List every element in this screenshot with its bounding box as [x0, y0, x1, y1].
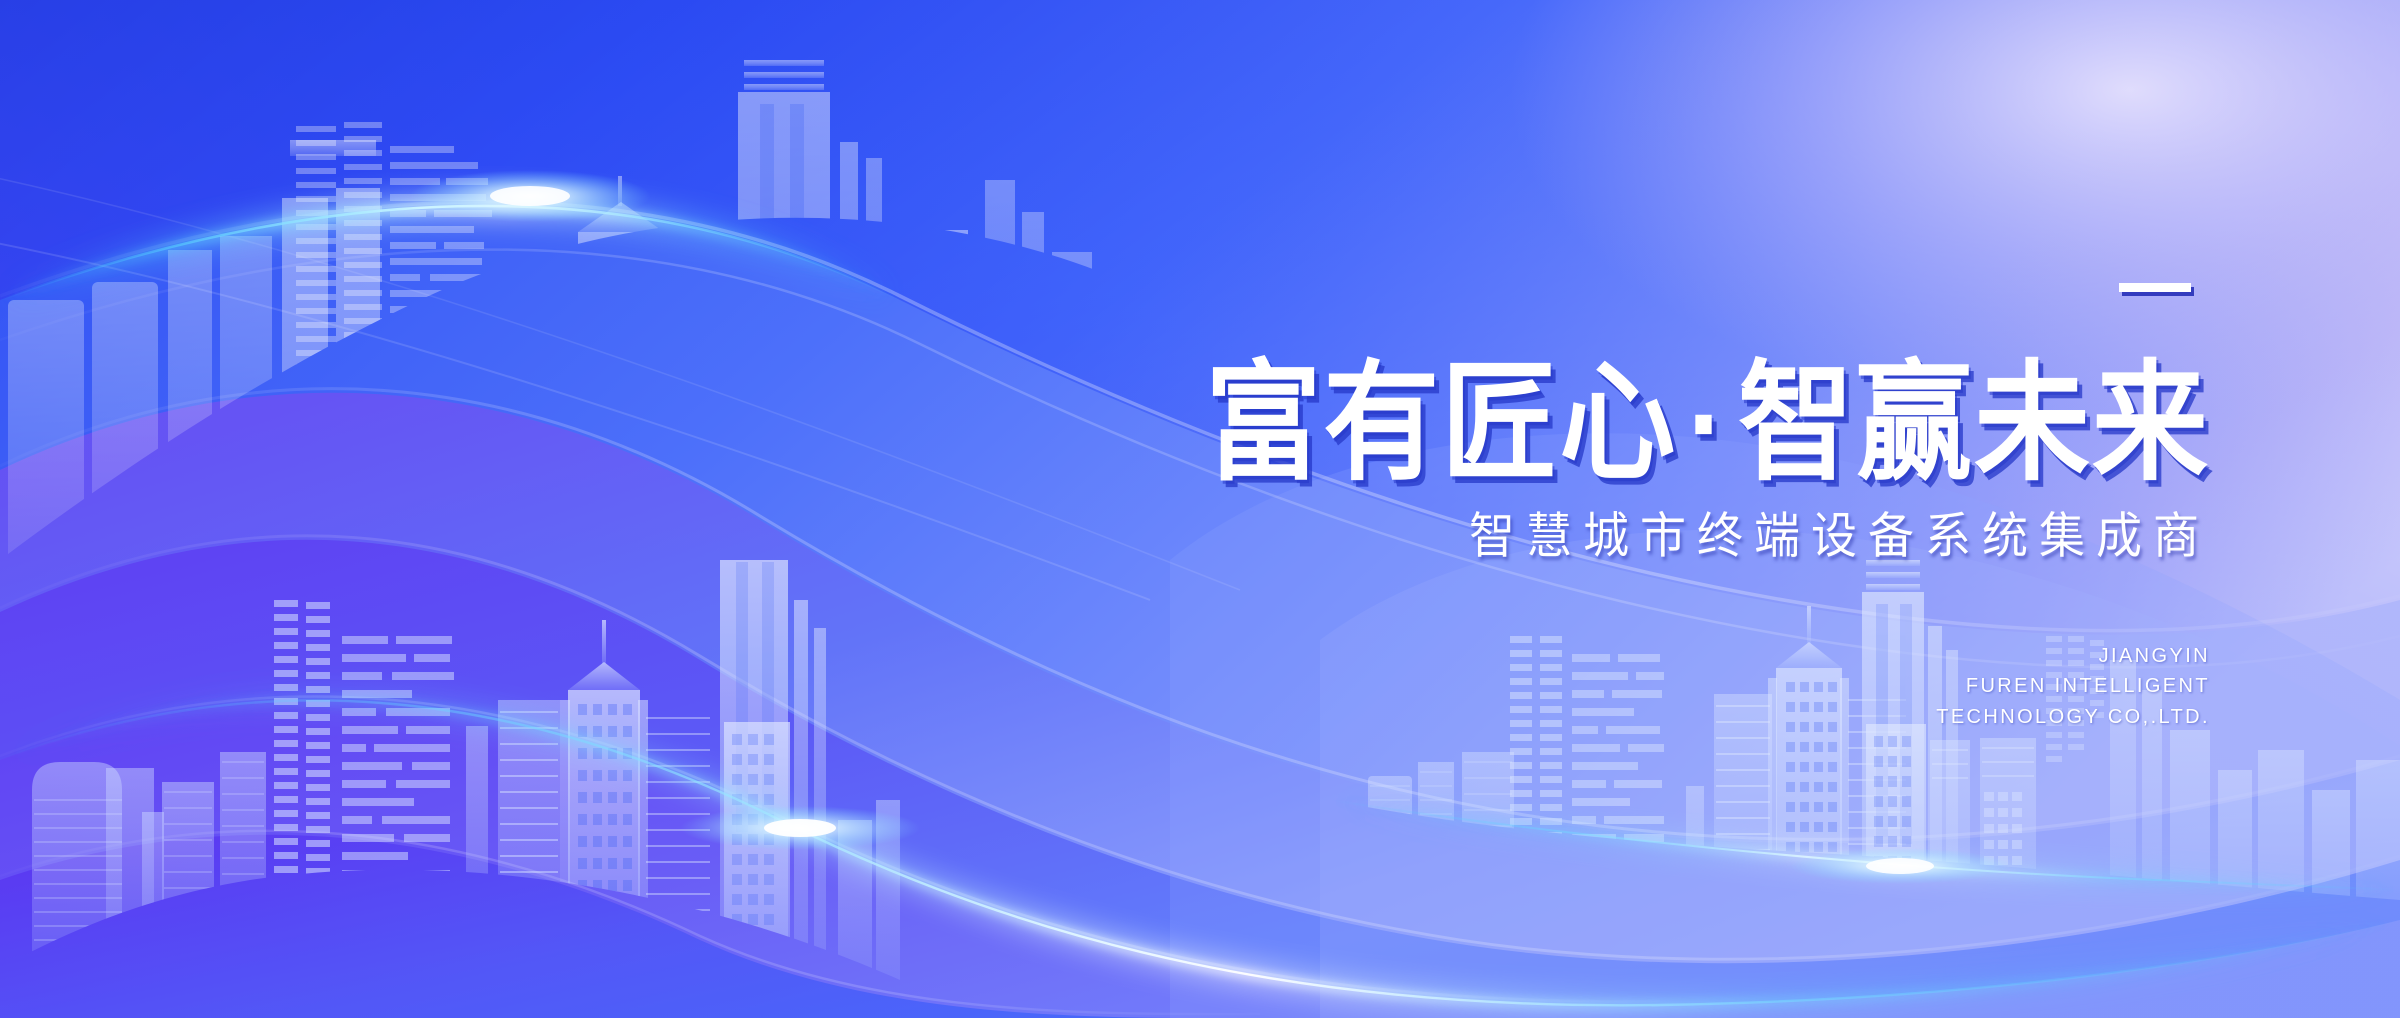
promo-banner: 富有匠心·智赢未来 智慧城市终端设备系统集成商 JIANGYIN FUREN I…: [0, 0, 2400, 1018]
glow-arc-right: [1330, 800, 2400, 890]
glow-arc-upper: [0, 170, 900, 300]
glow-arcs: [0, 0, 2400, 1018]
glow-arc-lower: [0, 700, 2400, 1005]
